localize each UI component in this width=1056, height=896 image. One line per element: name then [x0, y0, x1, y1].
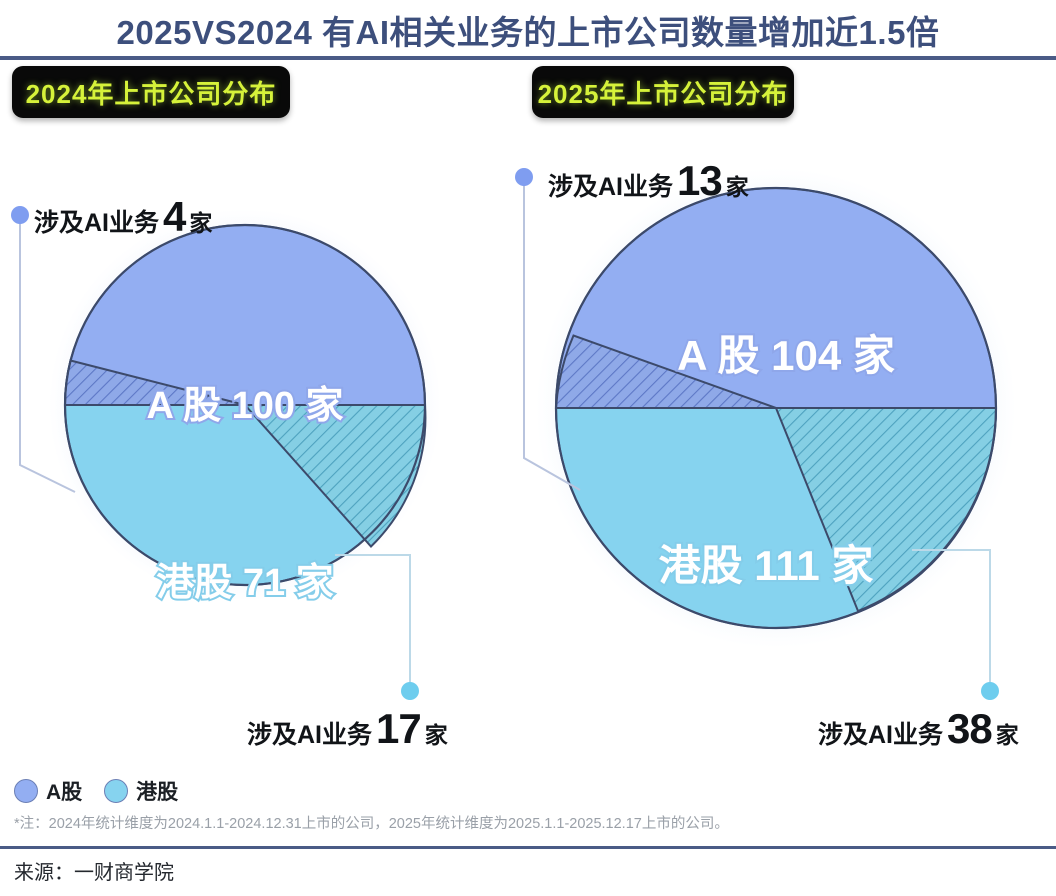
legend-label-ashare: A股: [46, 776, 82, 806]
callout-dot-2025-ashare: [515, 168, 533, 186]
legend-label-hshare: 港股: [136, 776, 178, 806]
title-divider: [0, 56, 1056, 60]
callout-dot-2024-hshare: [401, 682, 419, 700]
badge-2025-distribution: 2025年上市公司分布: [532, 66, 794, 118]
callout-2024-hshare-text: 涉及AI业务: [247, 715, 372, 751]
source-label: 来源：一财商学院: [14, 856, 174, 885]
callout-dot-2024-ashare: [11, 206, 29, 224]
legend-item-ashare: A股: [14, 776, 82, 806]
callout-2024-hshare-unit: 家: [425, 716, 448, 750]
badge-2024-label: 2024年上市公司分布: [26, 74, 277, 111]
callout-2025-hshare-ai: 涉及AI业务 38 家: [818, 708, 1019, 751]
pie-2025-label-hshare: 港股 111 家: [659, 542, 874, 589]
callout-2024-ashare-ai: 涉及AI业务 4 家: [34, 196, 212, 239]
callout-2024-hshare-ai: 涉及AI业务 17 家: [247, 708, 448, 751]
badge-2024-distribution: 2024年上市公司分布: [12, 66, 290, 118]
callout-2024-ashare-unit: 家: [189, 204, 212, 238]
legend-swatch-ashare: [14, 779, 38, 803]
callout-2025-hshare-unit: 家: [996, 716, 1019, 750]
callout-dot-2025-hshare: [981, 682, 999, 700]
source-divider: [0, 846, 1056, 849]
callout-2025-ashare-ai: 涉及AI业务 13 家: [548, 160, 749, 203]
page-title: 2025VS2024 有AI相关业务的上市公司数量增加近1.5倍: [0, 6, 1056, 54]
legend-swatch-hshare: [104, 779, 128, 803]
callout-2025-hshare-text: 涉及AI业务: [818, 715, 943, 751]
callout-2024-ashare-text: 涉及AI业务: [34, 203, 159, 239]
legend-item-hshare: 港股: [104, 776, 178, 806]
pie-2025-label-ashare: A 股 104 家: [677, 332, 895, 379]
chart-legend: A股 港股: [14, 776, 178, 806]
callout-2024-ashare-value: 4: [163, 196, 185, 238]
connector-2024-hshare: [335, 555, 410, 685]
badge-2025-label: 2025年上市公司分布: [538, 74, 789, 111]
callout-2025-ashare-value: 13: [677, 160, 722, 202]
callout-2025-hshare-value: 38: [947, 708, 992, 750]
pie-2024-label-ashare: A 股 100 家: [146, 385, 343, 427]
callout-2024-hshare-value: 17: [376, 708, 421, 750]
footnote: *注：2024年统计维度为2024.1.1-2024.12.31上市的公司，20…: [14, 812, 1044, 833]
infographic-page: 2025VS2024 有AI相关业务的上市公司数量增加近1.5倍 2024年上市…: [0, 0, 1056, 896]
pie-2024-label-hshare: 港股 71 家: [156, 562, 333, 604]
callout-2025-ashare-text: 涉及AI业务: [548, 167, 673, 203]
callout-2025-ashare-unit: 家: [726, 168, 749, 202]
